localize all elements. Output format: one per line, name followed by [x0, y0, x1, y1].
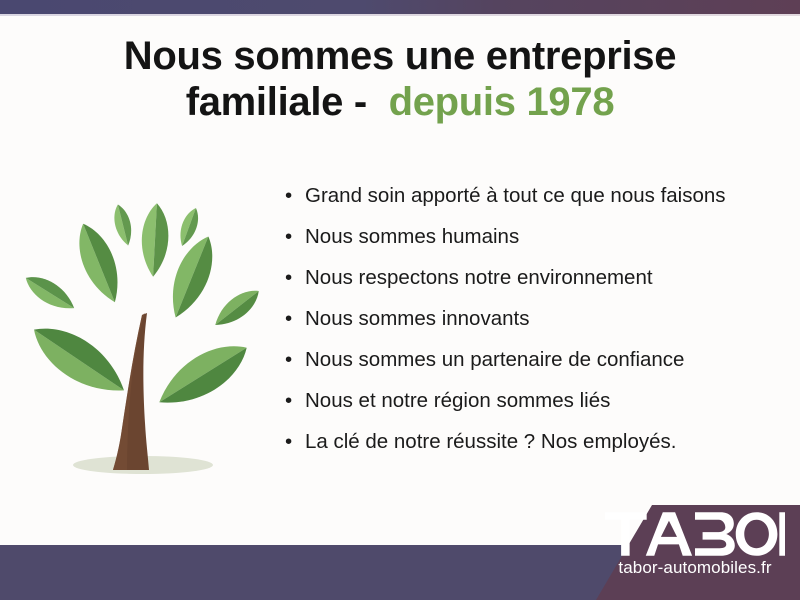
tabor-wordmark-icon [605, 512, 785, 556]
bullet-marker-icon: • [285, 268, 305, 289]
bullet-marker-icon: • [285, 186, 305, 207]
bullet-text: Nous et notre région sommes liés [305, 391, 610, 412]
top-accent-hairline [0, 14, 800, 16]
bullet-text: Nous sommes humains [305, 227, 519, 248]
leaf-6 [161, 231, 223, 324]
tree-trunk [113, 313, 149, 470]
list-item: • Nous respectons notre environnement [285, 268, 785, 309]
bullet-marker-icon: • [285, 309, 305, 330]
title-line-1: Nous sommes une entreprise [40, 34, 760, 80]
slide-canvas: Nous sommes une entreprise familiale - d… [0, 0, 800, 600]
bullet-text: La clé de notre réussite ? Nos employés. [305, 432, 676, 453]
tree-illustration [15, 195, 270, 485]
list-item: • Nous sommes innovants [285, 309, 785, 350]
leaf-3 [111, 203, 136, 248]
list-item: • La clé de notre réussite ? Nos employé… [285, 432, 785, 473]
list-item: • Nous et notre région sommes liés [285, 391, 785, 432]
slide-title: Nous sommes une entreprise familiale - d… [40, 34, 760, 125]
tree-svg [15, 195, 270, 485]
title-line-2-accent: depuis 1978 [389, 80, 615, 124]
value-bullet-list: • Grand soin apporté à tout ce que nous … [285, 186, 785, 473]
bullet-marker-icon: • [285, 432, 305, 453]
tabor-logo[interactable]: tabor-automobiles.fr [600, 512, 790, 592]
list-item: • Grand soin apporté à tout ce que nous … [285, 186, 785, 227]
list-item: • Nous sommes un partenaire de confiance [285, 350, 785, 391]
bullet-marker-icon: • [285, 227, 305, 248]
bullet-marker-icon: • [285, 391, 305, 412]
bullet-text: Nous sommes innovants [305, 309, 529, 330]
title-line-2-plain: familiale - [186, 80, 367, 124]
leaf-9 [149, 332, 256, 418]
logo-url-text: tabor-automobiles.fr [618, 558, 771, 578]
leaf-5 [175, 205, 203, 248]
title-line-2: familiale - depuis 1978 [40, 80, 760, 126]
leaf-8 [23, 313, 135, 406]
bullet-text: Nous respectons notre environnement [305, 268, 653, 289]
leaf-1 [20, 269, 79, 317]
bullet-marker-icon: • [285, 350, 305, 371]
list-item: • Nous sommes humains [285, 227, 785, 268]
leaf-4 [140, 203, 170, 278]
bullet-text: Grand soin apporté à tout ce que nous fa… [305, 186, 726, 207]
top-accent-bar [0, 0, 800, 14]
bullet-text: Nous sommes un partenaire de confiance [305, 350, 684, 371]
leaf-7 [209, 283, 265, 333]
